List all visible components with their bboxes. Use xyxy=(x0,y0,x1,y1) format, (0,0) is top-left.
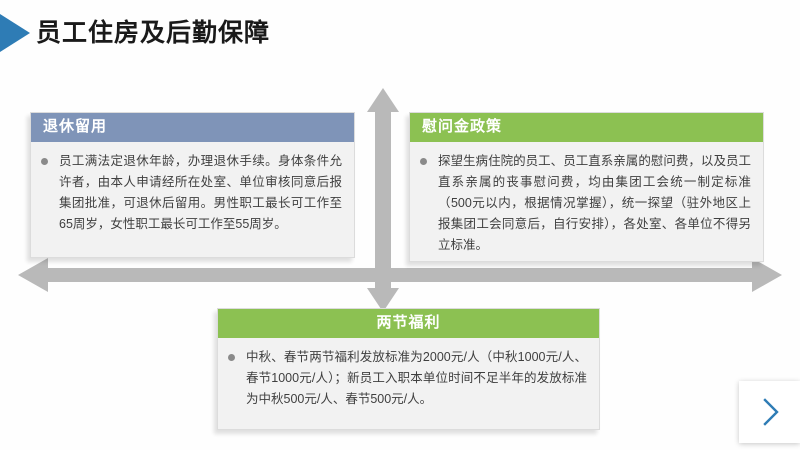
down-arrow-icon xyxy=(367,268,399,312)
bullet-icon xyxy=(228,354,235,361)
vertical-double-arrow-icon xyxy=(367,88,399,268)
card-retirement: 退休留用 员工满法定退休年龄，办理退休手续。身体条件允许者，由本人申请经所在处室… xyxy=(30,112,355,258)
card-condolence: 慰问金政策 探望生病住院的员工、员工直系亲属的慰问费，以及员工直系亲属的丧事慰问… xyxy=(409,112,764,262)
chevron-right-icon xyxy=(757,395,783,429)
card-condolence-body: 探望生病住院的员工、员工直系亲属的慰问费，以及员工直系亲属的丧事慰问费，均由集团… xyxy=(410,142,763,266)
next-slide-button[interactable] xyxy=(739,381,800,443)
card-condolence-header: 慰问金政策 xyxy=(410,113,763,142)
card-festival-benefit-text: 中秋、春节两节福利发放标准为2000元/人（中秋1000元/人、春节1000元/… xyxy=(246,347,587,410)
page-title: 员工住房及后勤保障 xyxy=(36,17,270,49)
bullet-icon xyxy=(41,158,48,165)
card-festival-benefit: 两节福利 中秋、春节两节福利发放标准为2000元/人（中秋1000元/人、春节1… xyxy=(217,308,600,430)
card-festival-benefit-body: 中秋、春节两节福利发放标准为2000元/人（中秋1000元/人、春节1000元/… xyxy=(218,338,599,420)
card-condolence-text: 探望生病住院的员工、员工直系亲属的慰问费，以及员工直系亲属的丧事慰问费，均由集团… xyxy=(438,151,751,256)
card-festival-benefit-header: 两节福利 xyxy=(218,309,599,338)
slide-canvas: 员工住房及后勤保障 退休留用 员工满法定退休年龄，办理退休手续。身体条件允许者，… xyxy=(0,0,800,450)
bullet-icon xyxy=(420,158,427,165)
title-triangle-icon xyxy=(0,14,30,52)
card-retirement-header: 退休留用 xyxy=(31,113,354,142)
card-retirement-body: 员工满法定退休年龄，办理退休手续。身体条件允许者，由本人申请经所在处室、单位审核… xyxy=(31,142,354,245)
card-retirement-text: 员工满法定退休年龄，办理退休手续。身体条件允许者，由本人申请经所在处室、单位审核… xyxy=(59,151,342,235)
